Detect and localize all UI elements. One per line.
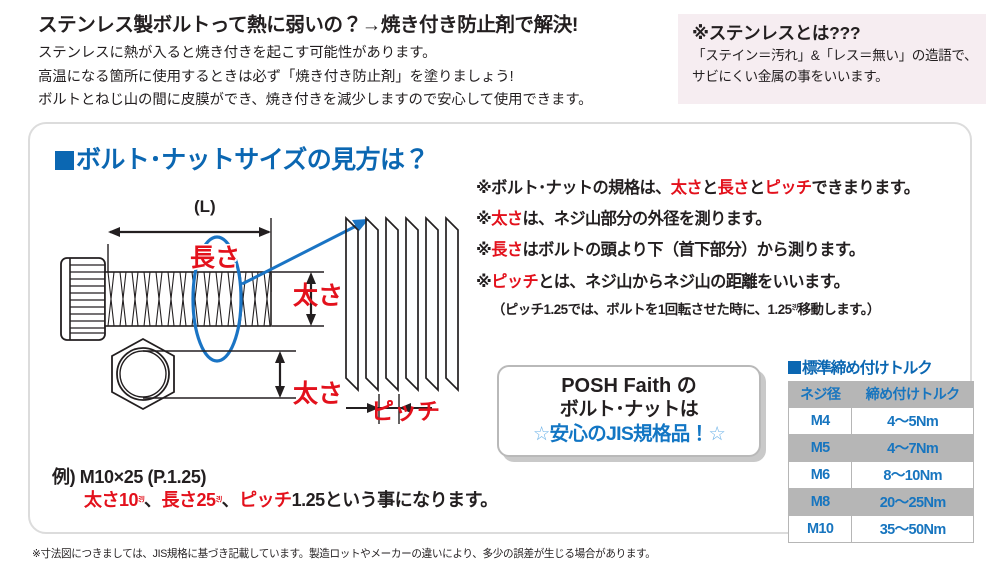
- header-line: ステンレスに熱が入ると焼き付きを起こす可能性があります。: [38, 42, 678, 65]
- pink-box-line: 「ステイン＝汚れ」&「レス＝無い」の造語で、: [692, 45, 972, 66]
- text-run: ※: [476, 273, 491, 291]
- torque-table-block: 標準締め付けトルク ネジ径 締め付けトルク M4 4～5Nm M5 4～7Nm: [788, 356, 974, 543]
- table-header-row: ネジ径 締め付けトルク: [789, 382, 974, 408]
- example-block: 例) M10×25 (P.1.25) 太さ10ﾐﾘ、長さ25ﾐﾘ、ピッチ1.25…: [52, 466, 498, 512]
- torque-title-text: 標準締め付けトルク: [802, 360, 932, 377]
- star-right-icon: ☆: [708, 423, 725, 445]
- text-run: と: [749, 179, 765, 197]
- posh-faith-box: POSH Faith の ボルト･ナットは ☆安心のJIS規格品！☆: [497, 365, 761, 457]
- header-line: ボルトとねじ山の間に皮膜ができ、焼き付きを減少しますので安心して使用できます。: [38, 89, 678, 112]
- table-row: M4 4～5Nm: [789, 408, 974, 435]
- pink-box-title: ※ステンレスとは???: [692, 23, 972, 45]
- bullet-list: ※ボルト･ナットの規格は、太さと長さとピッチできまります。 ※太さは、ネジ山部分…: [476, 180, 992, 318]
- pink-box-line: サビにくい金属の事をいいます。: [692, 66, 972, 87]
- cell-diameter: M10: [789, 516, 852, 543]
- bullet-item-length: ※長さはボルトの頭より下（首下部分）から測ります。: [476, 242, 992, 258]
- bullet-item-thickness: ※太さは、ネジ山部分の外径を測ります。: [476, 211, 992, 227]
- text-run: 、: [144, 490, 162, 510]
- text-run: とは、ネジ山からネジ山の距離をいいます。: [538, 273, 849, 291]
- posh-jis-text: 安心のJIS規格品！: [550, 423, 709, 445]
- torque-table: ネジ径 締め付けトルク M4 4～5Nm M5 4～7Nm M6 8～10Nm: [788, 381, 974, 543]
- stainless-definition-box: ※ステンレスとは??? 「ステイン＝汚れ」&「レス＝無い」の造語で、 サビにくい…: [678, 14, 986, 104]
- posh-line-3: ☆安心のJIS規格品！☆: [499, 422, 759, 446]
- cell-torque: 8～10Nm: [852, 462, 974, 489]
- text-run: 太さ10: [84, 490, 138, 510]
- bullet-subnote-pitch: （ピッチ1.25では、ボルトを1回転させた時に、1.25ﾐﾘ移動します。）: [476, 298, 992, 318]
- bolt-nut-diagram: (L) 長さ 太さ 太さ ピッチ: [46, 196, 466, 461]
- bullet-item-pitch: ※ピッチとは、ネジ山からネジ山の距離をいいます。: [476, 274, 992, 290]
- text-run: ピッチ: [491, 273, 538, 291]
- table-row: M6 8～10Nm: [789, 462, 974, 489]
- torque-table-title: 標準締め付けトルク: [788, 356, 974, 378]
- cell-torque: 20～25Nm: [852, 489, 974, 516]
- cell-diameter: M5: [789, 435, 852, 462]
- text-run: 長さ: [491, 241, 522, 259]
- page-title: ステンレス製ボルトって熱に弱いの？→焼き付き防止剤で解決!: [38, 14, 678, 37]
- text-run: はボルトの頭より下（首下部分）から測ります。: [522, 241, 864, 259]
- header-body: ステンレスに熱が入ると焼き付きを起こす可能性があります。 高温になる箇所に使用す…: [38, 42, 678, 112]
- table-row: M5 4～7Nm: [789, 435, 974, 462]
- text-run: ※: [476, 241, 491, 259]
- example-line-1: 例) M10×25 (P.1.25): [52, 466, 498, 489]
- posh-line-1: POSH Faith の: [499, 374, 759, 399]
- text-run: 長さ25: [162, 490, 216, 510]
- cell-torque: 4～5Nm: [852, 408, 974, 435]
- example-line-2: 太さ10ﾐﾘ、長さ25ﾐﾘ、ピッチ1.25という事になります。: [52, 489, 498, 512]
- nut-thickness-label: 太さ: [293, 374, 343, 410]
- text-run: 太さ: [671, 179, 702, 197]
- star-left-icon: ☆: [533, 423, 550, 445]
- footnote: ※寸法図につきましては、JIS規格に基づき記載しています。製造ロットやメーカーの…: [32, 546, 656, 561]
- cell-diameter: M8: [789, 489, 852, 516]
- cell-diameter: M6: [789, 462, 852, 489]
- bolt-thickness-label: 太さ: [293, 276, 343, 312]
- panel-title-text: ボルト･ナットサイズの見方は？: [76, 146, 429, 174]
- header-block: ステンレス製ボルトって熱に弱いの？→焼き付き防止剤で解決! ステンレスに熱が入る…: [38, 14, 678, 112]
- bullet-item-spec: ※ボルト･ナットの規格は、太さと長さとピッチできまります。: [476, 180, 992, 196]
- length-label: 長さ: [190, 238, 240, 274]
- blue-square-bullet-icon: [788, 361, 801, 374]
- text-run: できまります。: [812, 179, 920, 197]
- blue-square-bullet-icon: [55, 151, 74, 170]
- text-run: は、ネジ山部分の外径を測ります。: [522, 210, 771, 228]
- text-run: ピッチ: [239, 490, 292, 510]
- table-row: M8 20～25Nm: [789, 489, 974, 516]
- header-line: 高温になる箇所に使用するときは必ず「焼き付き防止剤」を塗りましょう!: [38, 66, 678, 89]
- pitch-label: ピッチ: [371, 392, 440, 426]
- cell-diameter: M4: [789, 408, 852, 435]
- column-header-diameter: ネジ径: [789, 382, 852, 408]
- text-run: 移動します。）: [798, 302, 880, 317]
- text-run: 1.25という事になります。: [292, 490, 498, 510]
- panel-title: ボルト･ナットサイズの見方は？: [55, 140, 429, 176]
- length-dimension-label: (L): [194, 197, 216, 217]
- text-run: 長さ: [718, 179, 749, 197]
- text-run: ※: [476, 210, 491, 228]
- text-run: ※ボルト･ナットの規格は、: [476, 179, 671, 197]
- table-row: M10 35～50Nm: [789, 516, 974, 543]
- column-header-torque: 締め付けトルク: [852, 382, 974, 408]
- cell-torque: 35～50Nm: [852, 516, 974, 543]
- text-run: 太さ: [491, 210, 522, 228]
- cell-torque: 4～7Nm: [852, 435, 974, 462]
- text-run: 、: [222, 490, 240, 510]
- text-run: ピッチ: [765, 179, 812, 197]
- text-run: （ピッチ1.25では、ボルトを1回転させた時に、1.25: [492, 302, 792, 317]
- text-run: と: [702, 179, 718, 197]
- infographic-page: ステンレス製ボルトって熱に弱いの？→焼き付き防止剤で解決! ステンレスに熱が入る…: [0, 0, 1000, 572]
- posh-line-2: ボルト･ナットは: [499, 399, 759, 422]
